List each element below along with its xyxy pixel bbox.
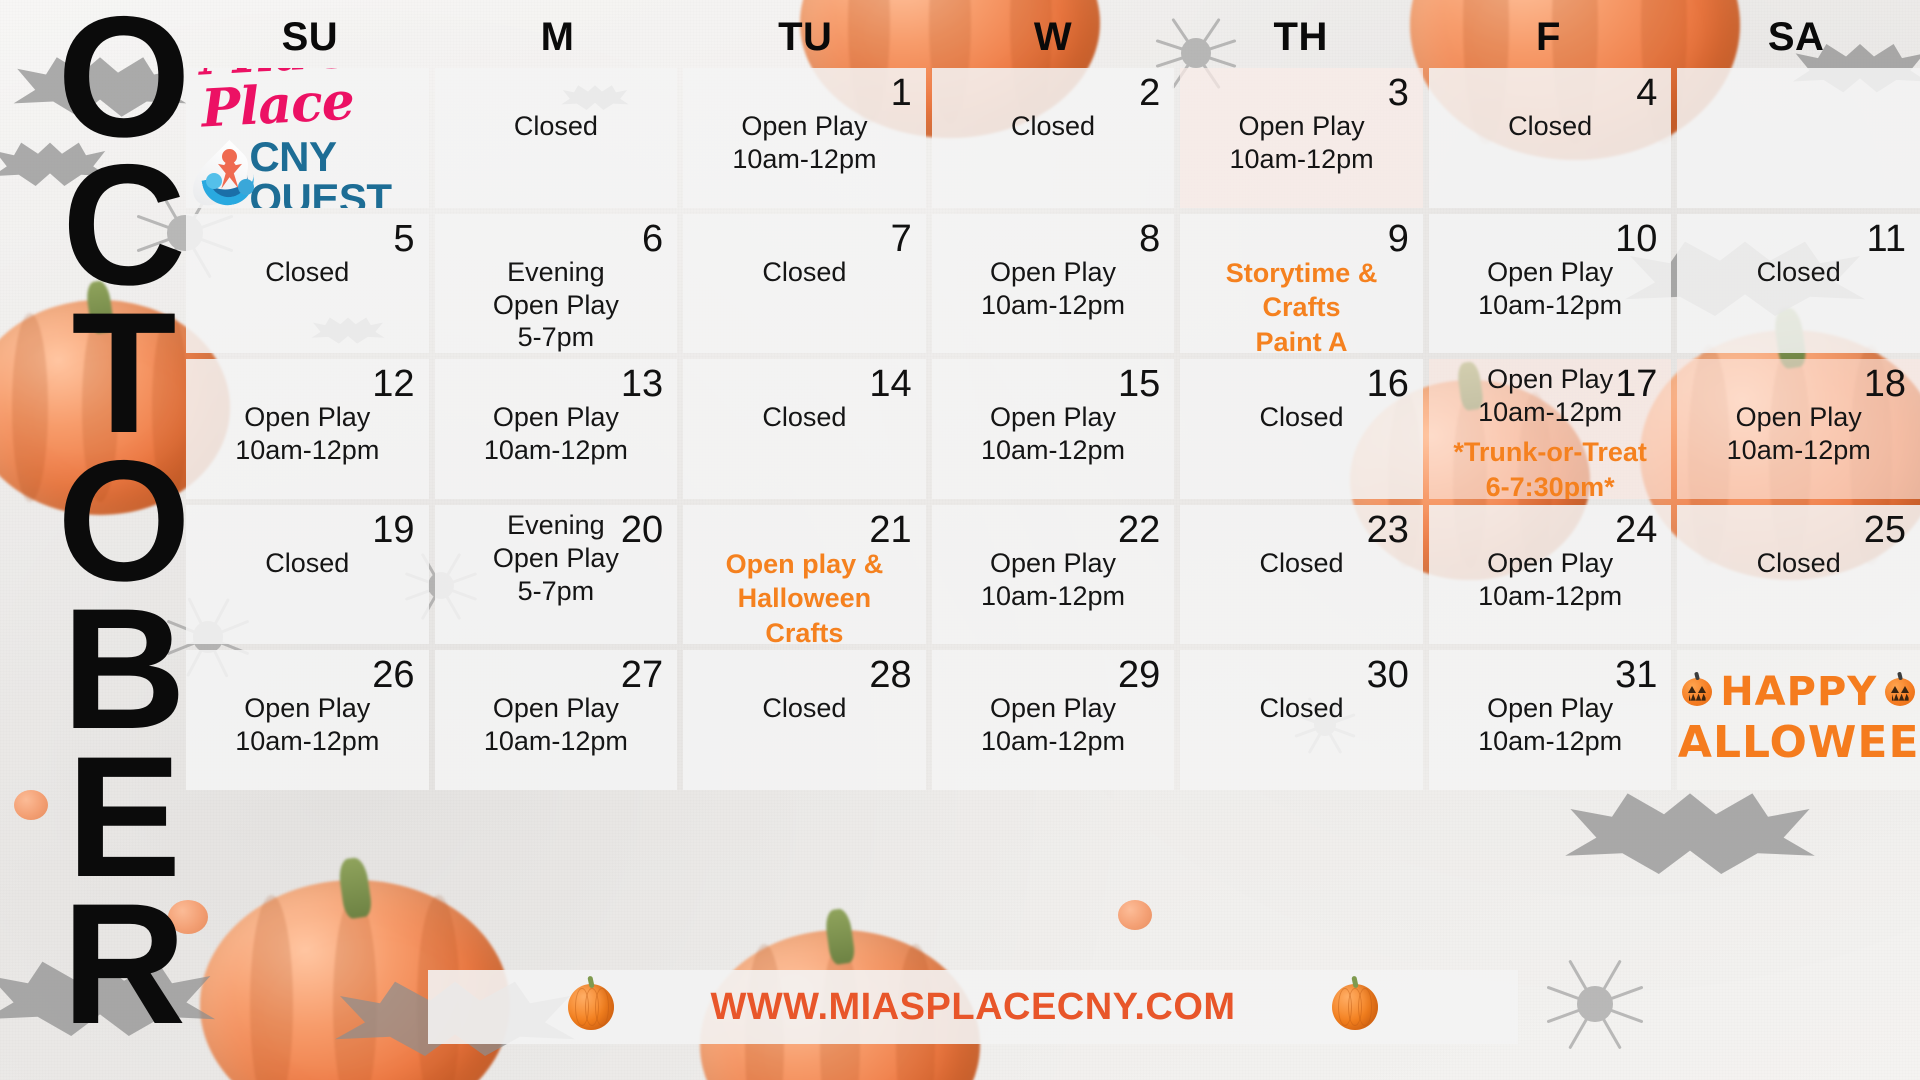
day-header-tu: TU <box>681 6 929 68</box>
day-number: 10 <box>1443 220 1658 260</box>
mini-pumpkin-icon-row5 <box>1118 900 1152 930</box>
event-text: Open Play 10am-12pm <box>235 692 379 758</box>
day-events: Closed <box>1443 110 1658 198</box>
day-number: 31 <box>1443 656 1658 696</box>
event-text: Open Play 10am-12pm <box>981 401 1125 467</box>
day-events: Closed <box>1691 547 1906 635</box>
event-text: Evening Open Play 5-7pm <box>493 509 619 608</box>
event-text: Closed <box>762 692 846 725</box>
event-text: Open Play 10am-12pm <box>732 110 876 176</box>
event-text: Closed <box>1260 401 1344 434</box>
day-events: Open Play 10am-12pm <box>1443 692 1658 780</box>
day-number: 6 <box>449 220 664 260</box>
event-text: Storytime & Crafts Paint A Pumpkin! 5:00… <box>1194 256 1409 354</box>
day-events: Closed <box>1194 692 1409 780</box>
day-number: 15 <box>946 365 1161 405</box>
event-text: Closed <box>1260 547 1344 580</box>
day-number: 26 <box>200 656 415 696</box>
event-text: Open Play 10am-12pm <box>1478 256 1622 322</box>
day-cell-15[interactable]: 15Open Play 10am-12pm <box>932 359 1175 499</box>
day-of-week-header: SUMTUWTHFSA <box>186 6 1920 68</box>
event-text: Closed <box>1011 110 1095 143</box>
day-events: Open Play 10am-12pm <box>697 110 912 198</box>
day-number: 21 <box>697 511 912 551</box>
event-text: Open play & Halloween Crafts 10am-12pm <box>697 547 912 645</box>
day-number: 30 <box>1194 656 1409 696</box>
day-number: 11 <box>1691 220 1906 260</box>
day-number: 28 <box>697 656 912 696</box>
footer-bar: WWW.MIASPLACECNY.COM <box>428 970 1518 1044</box>
day-number: 23 <box>1194 511 1409 551</box>
event-text: Closed <box>1260 692 1344 725</box>
logo-script-name: Mia's Place <box>197 68 417 135</box>
day-events: Closed <box>1194 547 1409 635</box>
day-events: Closed <box>1691 256 1906 344</box>
event-text: Open Play 10am-12pm <box>484 692 628 758</box>
day-number: 7 <box>697 220 912 260</box>
day-events: Evening Open Play 5-7pm <box>449 547 664 635</box>
event-text: Evening Open Play 5-7pm <box>493 256 619 354</box>
day-cell-6[interactable]: 6Evening Open Play 5-7pm <box>435 214 678 354</box>
day-events: Evening Open Play 5-7pm <box>449 256 664 354</box>
event-text: Closed <box>1757 547 1841 580</box>
day-events: Open Play 10am-12pm <box>946 547 1161 635</box>
day-header-f: F <box>1425 6 1673 68</box>
day-number: 13 <box>449 365 664 405</box>
day-cell-17[interactable]: 17Open Play 10am-12pm*Trunk-or-Treat 6-7… <box>1429 359 1672 499</box>
day-events <box>1691 110 1906 198</box>
event-text: Closed <box>514 110 598 143</box>
day-cell-20[interactable]: 20Evening Open Play 5-7pm <box>435 505 678 645</box>
day-number <box>449 74 664 114</box>
day-events: Open Play 10am-12pm*Trunk-or-Treat 6-7:3… <box>1443 401 1658 499</box>
day-events: Open Play 10am-12pm <box>1691 401 1906 489</box>
day-events: Closed <box>200 256 415 344</box>
jack-o-lantern-icon-left <box>1682 678 1712 706</box>
event-text: Open Play 10am-12pm <box>1727 401 1871 467</box>
day-cell-30[interactable]: 30Closed <box>1180 650 1423 790</box>
day-cell-31[interactable]: 31Open Play 10am-12pm <box>1429 650 1672 790</box>
day-number: 19 <box>200 511 415 551</box>
halloween-line1-text: HAPPY <box>1720 669 1877 715</box>
day-events: Open Play 10am-12pm <box>1443 256 1658 344</box>
day-number: 4 <box>1443 74 1658 114</box>
event-text: Open Play 10am-12pm <box>981 547 1125 613</box>
day-cell-22[interactable]: 22Open Play 10am-12pm <box>932 505 1175 645</box>
day-cell-5[interactable]: 5Closed <box>186 214 429 354</box>
day-cell-8[interactable]: 8Open Play 10am-12pm <box>932 214 1175 354</box>
pumpkin-icon-footer-left <box>568 984 614 1030</box>
day-number: 9 <box>1194 220 1409 260</box>
day-number: 24 <box>1443 511 1658 551</box>
day-events: Closed <box>697 692 912 780</box>
day-number: 16 <box>1194 365 1409 405</box>
day-cell-2[interactable]: 2Closed <box>932 68 1175 208</box>
day-events: Open Play 10am-12pm <box>1443 547 1658 635</box>
october-calendar-poster: O C T O B E R SUMTUWTHFSA Mia's PlaceCNY… <box>0 0 1920 1080</box>
day-cell-12[interactable]: 12Open Play 10am-12pm <box>186 359 429 499</box>
event-text: Open Play 10am-12pm <box>484 401 628 467</box>
day-events: Storytime & Crafts Paint A Pumpkin! 5:00… <box>1194 256 1409 354</box>
event-text: Closed <box>762 401 846 434</box>
day-cell-24[interactable]: 24Open Play 10am-12pm <box>1429 505 1672 645</box>
jack-o-lantern-icon-right <box>1885 678 1915 706</box>
event-text: *Trunk-or-Treat 6-7:30pm* <box>1453 435 1647 499</box>
day-cell-28[interactable]: 28Closed <box>683 650 926 790</box>
event-text: Open Play 10am-12pm <box>235 401 379 467</box>
day-cell-23[interactable]: 23Closed <box>1180 505 1423 645</box>
day-cell-27[interactable]: 27Open Play 10am-12pm <box>435 650 678 790</box>
halloween-cell[interactable]: HAPPYHALLOWEEN <box>1677 650 1920 790</box>
empty-cell: Closed <box>435 68 678 208</box>
logo-org-row: CNY QUEST <box>200 136 415 208</box>
event-text: Closed <box>1508 110 1592 143</box>
day-number: 8 <box>946 220 1161 260</box>
day-header-m: M <box>434 6 682 68</box>
event-text: Open Play 10am-12pm <box>981 256 1125 322</box>
day-header-sa: SA <box>1672 6 1920 68</box>
day-events: Open Play 10am-12pm <box>449 692 664 780</box>
day-header-su: SU <box>186 6 434 68</box>
event-text: Open Play 10am-12pm <box>1478 547 1622 613</box>
day-cell-21[interactable]: 21Open play & Halloween Crafts 10am-12pm <box>683 505 926 645</box>
spider-icon-footer-right <box>1540 950 1650 1056</box>
day-events: Closed <box>1194 401 1409 489</box>
day-number: 2 <box>946 74 1161 114</box>
month-title-vertical: O C T O B E R <box>38 0 208 1080</box>
event-text: Closed <box>1757 256 1841 289</box>
happy-halloween-art: HAPPYHALLOWEEN <box>1691 656 1906 780</box>
month-letter: R <box>62 891 184 1039</box>
event-text: Closed <box>265 256 349 289</box>
day-number: 12 <box>200 365 415 405</box>
day-events: Open Play 10am-12pm <box>946 692 1161 780</box>
day-cell-19[interactable]: 19Closed <box>186 505 429 645</box>
event-text: Closed <box>762 256 846 289</box>
day-events: Closed <box>449 110 664 198</box>
logo-org-name: CNY QUEST <box>249 136 414 208</box>
event-text: Open Play 10am-12pm <box>1230 110 1374 176</box>
event-text: Open Play 10am-12pm <box>981 692 1125 758</box>
day-number: 18 <box>1691 365 1906 405</box>
day-number <box>1691 74 1906 114</box>
day-cell-7[interactable]: 7Closed <box>683 214 926 354</box>
day-number: 3 <box>1194 74 1409 114</box>
day-events: Closed <box>946 110 1161 198</box>
website-url[interactable]: WWW.MIASPLACECNY.COM <box>710 986 1235 1029</box>
day-cell-26[interactable]: 26Open Play 10am-12pm <box>186 650 429 790</box>
day-cell-13[interactable]: 13Open Play 10am-12pm <box>435 359 678 499</box>
day-cell-10[interactable]: 10Open Play 10am-12pm <box>1429 214 1672 354</box>
organization-logo: Mia's PlaceCNY QUESTEMPOWERING PEOPLE WI… <box>200 74 415 198</box>
day-number: 1 <box>697 74 912 114</box>
day-cell-18[interactable]: 18Open Play 10am-12pm <box>1677 359 1920 499</box>
day-header-th: TH <box>1177 6 1425 68</box>
day-cell-14[interactable]: 14Closed <box>683 359 926 499</box>
day-cell-3[interactable]: 3Open Play 10am-12pm <box>1180 68 1423 208</box>
day-events: Open play & Halloween Crafts 10am-12pm <box>697 547 912 645</box>
day-events: Closed <box>697 401 912 489</box>
day-number: 5 <box>200 220 415 260</box>
day-number: 14 <box>697 365 912 405</box>
day-events: Open Play 10am-12pm <box>449 401 664 489</box>
event-text: Closed <box>265 547 349 580</box>
day-number: 25 <box>1691 511 1906 551</box>
halloween-line2-text: HALLOWEEN <box>1677 717 1920 768</box>
day-cell-16[interactable]: 16Closed <box>1180 359 1423 499</box>
day-cell-9[interactable]: 9Storytime & Crafts Paint A Pumpkin! 5:0… <box>1180 214 1423 354</box>
day-header-w: W <box>929 6 1177 68</box>
day-cell-29[interactable]: 29Open Play 10am-12pm <box>932 650 1175 790</box>
day-number: 22 <box>946 511 1161 551</box>
halloween-line1-row: HAPPY <box>1682 669 1915 715</box>
day-cell-11[interactable]: 11Closed <box>1677 214 1920 354</box>
calendar-grid: Mia's PlaceCNY QUESTEMPOWERING PEOPLE WI… <box>186 68 1920 790</box>
day-number: 29 <box>946 656 1161 696</box>
day-events: Open Play 10am-12pm <box>946 256 1161 344</box>
logo-cell[interactable]: Mia's PlaceCNY QUESTEMPOWERING PEOPLE WI… <box>186 68 429 208</box>
day-cell-1[interactable]: 1Open Play 10am-12pm <box>683 68 926 208</box>
event-text: Open Play 10am-12pm <box>1478 692 1622 758</box>
pumpkin-icon-footer-right <box>1332 984 1378 1030</box>
empty-cell <box>1677 68 1920 208</box>
event-text: Open Play 10am-12pm <box>1478 363 1622 429</box>
day-events: Open Play 10am-12pm <box>200 692 415 780</box>
day-events: Closed <box>200 547 415 635</box>
day-events: Open Play 10am-12pm <box>1194 110 1409 198</box>
day-number: 27 <box>449 656 664 696</box>
day-events: Closed <box>697 256 912 344</box>
day-cell-4[interactable]: 4Closed <box>1429 68 1672 208</box>
day-events: Open Play 10am-12pm <box>200 401 415 489</box>
day-cell-25[interactable]: 25Closed <box>1677 505 1920 645</box>
day-events: Open Play 10am-12pm <box>946 401 1161 489</box>
